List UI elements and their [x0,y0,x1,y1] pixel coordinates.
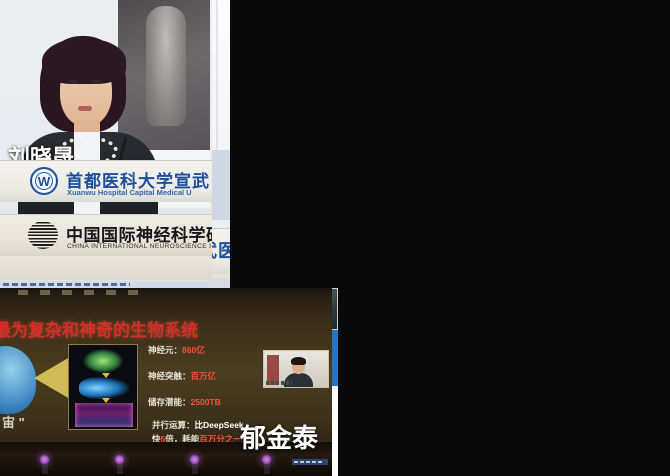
stat-key-0: 神经元： [148,345,182,355]
institute-banner: 中国国际神经科学研 CHINA INTERNATIONAL NEUROSCIEN… [0,214,212,256]
video-conference-grid: 聂立铭 首都医科大学宣武医 Xuanwu Hospital Capital Me… [0,0,670,476]
stat-key-1: 神经突触： [148,371,191,381]
bottom-ticker [0,281,212,288]
presentation-screen [118,0,210,150]
led-top-edge [0,288,332,298]
stage-light-2 [115,455,124,464]
stage-speaker-name-caption: 郁金泰 [240,418,318,455]
stage-light-4 [262,455,271,464]
neuron-image [83,349,123,373]
stat-row-2: 储存潜能：2500TB [148,396,221,408]
podium-sign-en: Xuanwu Hospital Capital Medical U [67,188,192,197]
podium-sign: 首都医科大学宣武 Xuanwu Hospital Capital Medical… [0,160,212,202]
stat-value-2: 2500TB [191,397,221,407]
stage-pip-label [266,381,292,385]
stat-value-0: 860亿 [182,345,205,355]
hospital-seal-icon [30,167,58,195]
compute-line-1: 并行运算：比DeepSeek [152,419,244,431]
stage-slide-heading: 最为复杂和神奇的生物系统 [0,316,198,341]
institute-banner-en: CHINA INTERNATIONAL NEUROSCIENCE I [67,243,211,250]
stage-light-1 [40,455,49,464]
stat-key-2: 储存潜能： [148,397,191,407]
globe-icon [28,221,58,249]
video-tile-stage[interactable]: 最为复杂和神奇的生物系统 宙 " 神经元：860亿 神经突触：百万亿 储存潜能：… [0,288,332,476]
neuron-inset-panel [68,344,138,430]
compute-key: 并行运算： [152,420,195,430]
stat-row-0: 神经元：860亿 [148,344,205,356]
brain-tissue-image [75,403,133,427]
stat-row-1: 神经突触：百万亿 [148,370,216,382]
synapse-image [79,377,129,399]
stage-lower-third-badge [292,459,328,465]
video-tile-speaker-3[interactable]: 刘晓晟 首都医科大学宣武 Xuanwu Hospital Capital Med… [0,0,212,288]
compute-value: 比DeepSeek [195,420,244,430]
stage-pip-video[interactable] [263,350,329,388]
stage-led-wall: 最为复杂和神奇的生物系统 宙 " 神经元：860亿 神经突触：百万亿 储存潜能：… [0,288,332,476]
stat-value-1: 百万亿 [191,371,217,381]
stage-quote-text: 宙 " [2,412,25,431]
brain-visual [0,346,36,414]
stage-light-3 [190,455,199,464]
